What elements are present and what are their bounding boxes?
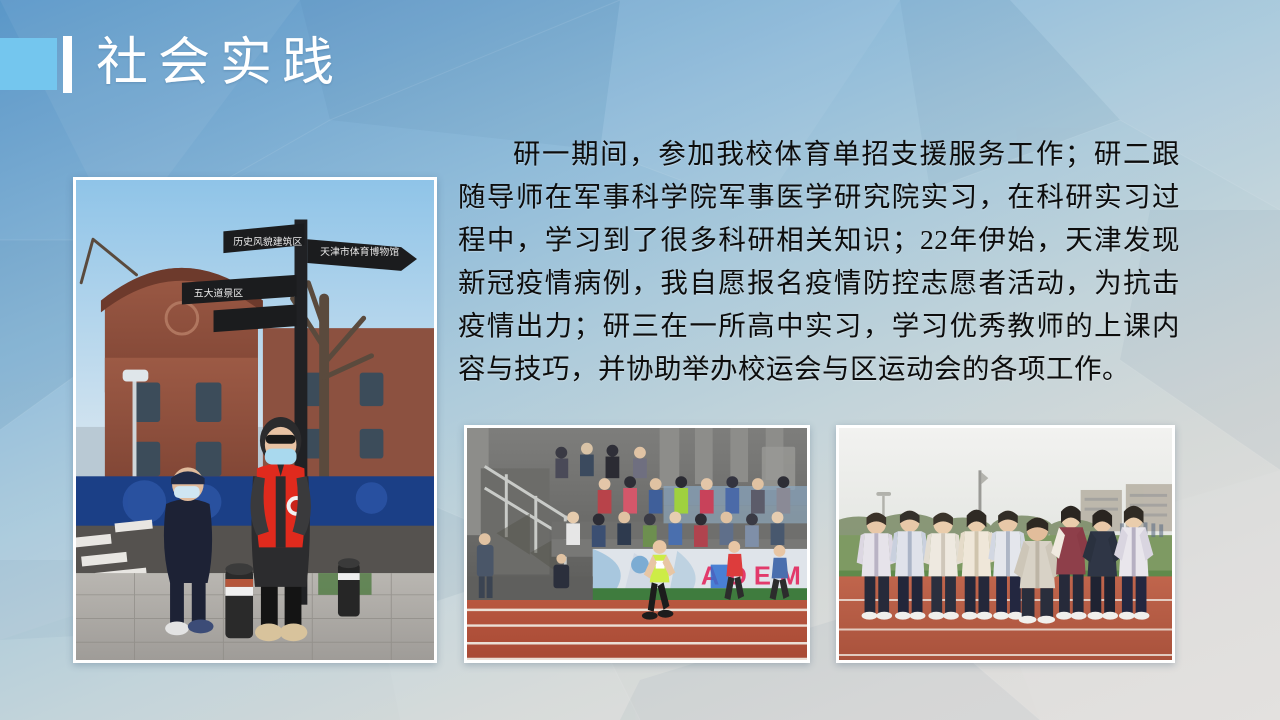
svg-text:E: E bbox=[754, 562, 771, 590]
body-paragraph: 研一期间，参加我校体育单招支援服务工作；研二跟随导师在军事科学院军事医学研究院实… bbox=[458, 132, 1180, 390]
slide-title-bar: 社会实践 bbox=[0, 36, 344, 92]
svg-text:五大道景区: 五大道景区 bbox=[194, 287, 243, 300]
track-meet-photo: A D E M bbox=[464, 425, 810, 663]
volunteer-street-photo: 天津市体育博物馆 历史风貌建筑区 五大道景区 bbox=[73, 177, 437, 663]
title-accent-rule bbox=[63, 36, 72, 93]
page-title: 社会实践 bbox=[96, 38, 344, 90]
svg-text:历史风貌建筑区: 历史风貌建筑区 bbox=[233, 235, 302, 248]
title-accent-square bbox=[0, 38, 57, 90]
svg-text:天津市体育博物馆: 天津市体育博物馆 bbox=[320, 245, 399, 258]
team-group-photo bbox=[836, 425, 1175, 663]
slide-canvas: 社会实践 研一期间，参加我校体育单招支援服务工作；研二跟随导师在军事科学院军事医… bbox=[0, 0, 1280, 720]
